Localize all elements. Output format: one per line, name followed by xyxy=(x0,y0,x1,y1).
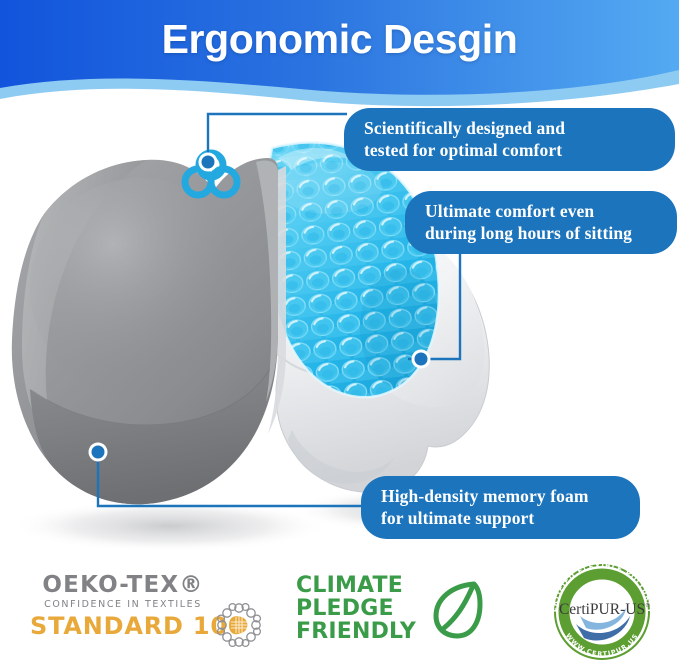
leaf-icon xyxy=(428,578,486,640)
page-title: Ergonomic Desgin xyxy=(0,14,679,64)
climate-word-3: FRIENDLY xyxy=(296,620,416,643)
oeko-tex-standard: STANDARD 100 xyxy=(30,612,216,640)
callout-scientifically-designed: Scientifically designed and tested for o… xyxy=(344,108,675,171)
callout-3-line-1: High-density memory foam xyxy=(381,485,620,507)
callout-memory-foam: High-density memory foam for ultimate su… xyxy=(361,476,640,539)
climate-word-2: PLEDGE xyxy=(296,597,416,620)
velour-sheen xyxy=(30,178,250,398)
callout-1-line-1: Scientifically designed and xyxy=(364,117,655,139)
oeko-tex-subtitle: CONFIDENCE IN TEXTILES xyxy=(30,598,216,612)
infographic-canvas: Ergonomic Desgin xyxy=(0,0,679,666)
badge-climate-pledge-friendly: CLIMATE PLEDGE FRIENDLY xyxy=(296,570,486,654)
shadow-left xyxy=(10,500,330,552)
oeko-tex-emblem-icon xyxy=(216,602,262,648)
climate-pledge-text-block: CLIMATE PLEDGE FRIENDLY xyxy=(296,574,416,643)
oeko-tex-text-block: OEKO-TEX® CONFIDENCE IN TEXTILES STANDAR… xyxy=(30,572,216,640)
callout-1-line-2: tested for optimal comfort xyxy=(364,139,655,161)
oeko-tex-title: OEKO-TEX® xyxy=(30,572,216,598)
callout-2-line-2: during long hours of sitting xyxy=(425,222,657,244)
header-banner: Ergonomic Desgin xyxy=(0,0,679,118)
certification-badges: OEKO-TEX® CONFIDENCE IN TEXTILES STANDAR… xyxy=(0,556,679,666)
callout-ultimate-comfort: Ultimate comfort even during long hours … xyxy=(405,191,677,254)
certipur-center-text: CertiPUR-US xyxy=(559,601,645,618)
memory-foam-cushion xyxy=(12,158,286,504)
callout-3-line-2: for ultimate support xyxy=(381,507,620,529)
climate-word-1: CLIMATE xyxy=(296,574,416,597)
certipur-registered-mark: ® xyxy=(645,602,651,609)
callout-2-line-1: Ultimate comfort even xyxy=(425,200,657,222)
badge-certipur-us: CONTAINS CERTIFIED FLEXIBLE POLYURETHANE… xyxy=(546,558,658,666)
badge-oeko-tex: OEKO-TEX® CONFIDENCE IN TEXTILES STANDAR… xyxy=(30,572,270,652)
